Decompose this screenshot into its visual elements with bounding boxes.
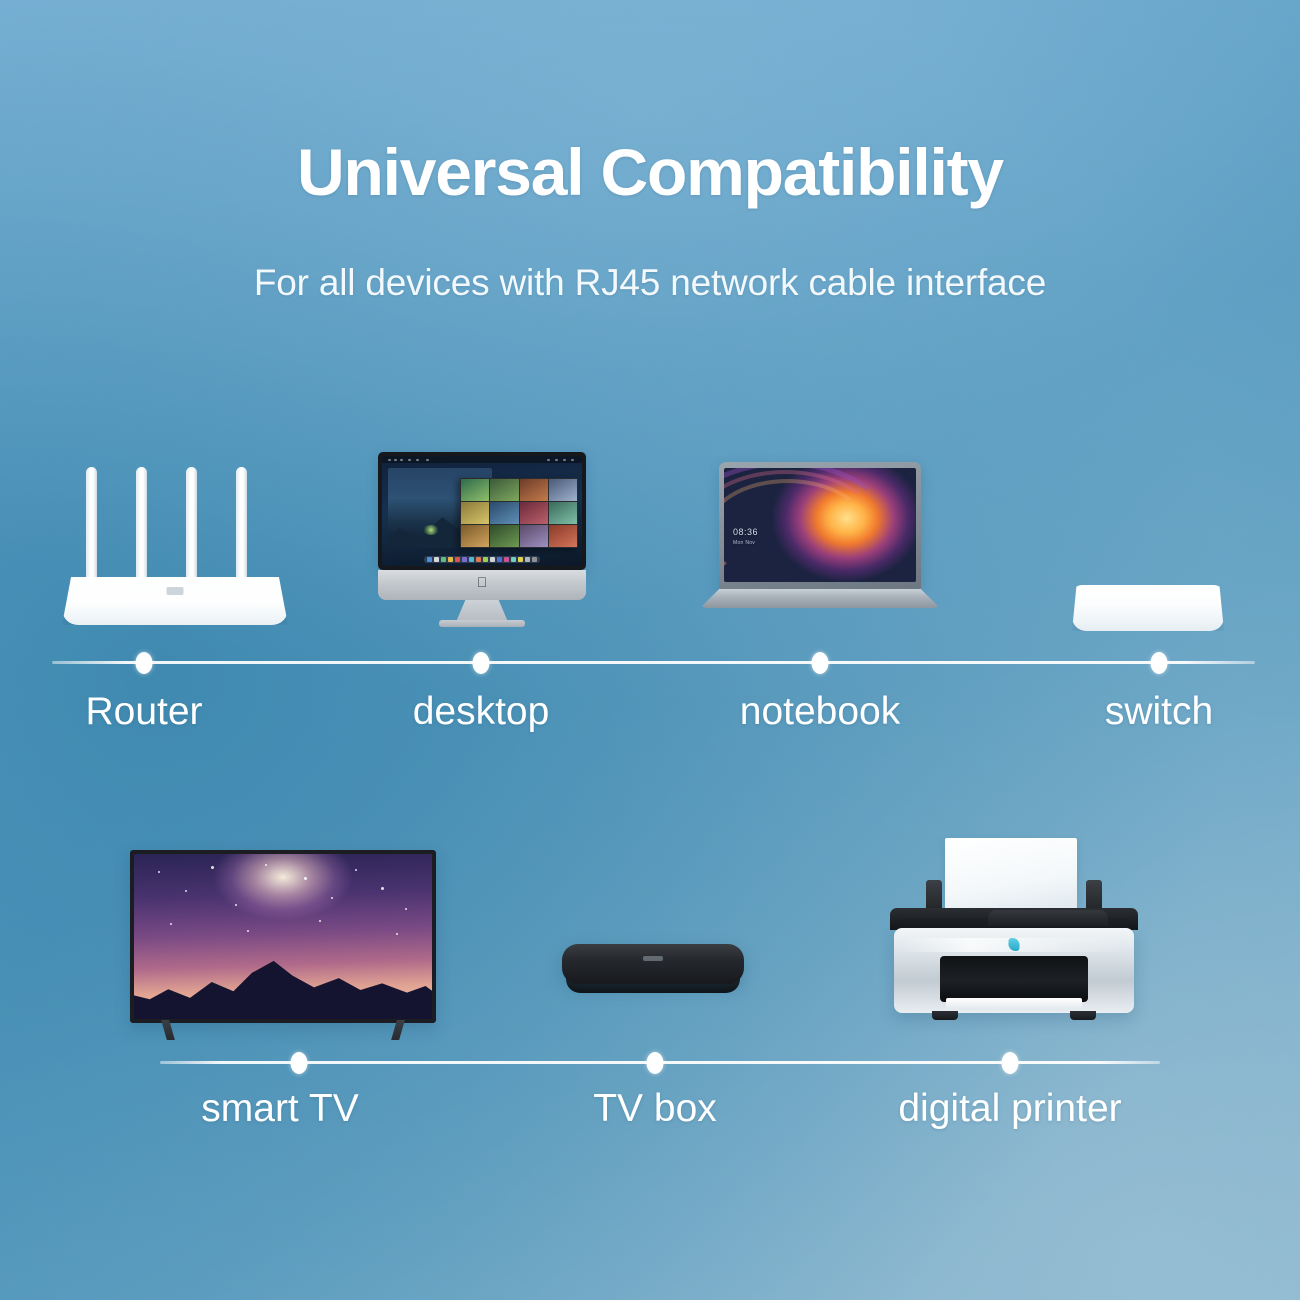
printer-output-tray [946,998,1082,1009]
printer-lid-seam [988,910,1108,926]
page-title: Universal Compatibility [0,138,1300,207]
device-label-router: Router [85,690,202,734]
imac-desktop-icon:  [378,452,586,634]
laptop-icon: 08:36 Mon Nov [700,462,940,637]
timeline-dot [136,652,153,674]
imac-screen [382,456,582,566]
apple-logo-icon:  [477,576,488,589]
timeline-dot [1151,652,1168,674]
printer-brand-logo [1009,938,1020,951]
device-label-switch: switch [1105,690,1213,734]
device-label-smart-tv: smart TV [201,1087,358,1131]
laptop-screen: 08:36 Mon Nov [724,468,916,582]
printer-icon [888,838,1140,1036]
clock-time: 08:36 [733,527,758,538]
imac-bezel [378,452,586,570]
imac-dock [424,556,540,563]
tv-box-icon [562,944,744,1006]
tv-mountain-silhouette [134,953,432,1019]
device-label-digital-printer: digital printer [898,1087,1121,1131]
device-label-desktop: desktop [413,690,550,734]
switch-body [1072,585,1224,631]
paper-guide [1086,880,1102,910]
router-body [62,577,288,625]
laptop-clock-widget: 08:36 Mon Nov [733,527,758,549]
television-icon [130,850,436,1040]
router-logo [167,587,184,595]
paper-guide [926,880,942,910]
device-label-notebook: notebook [740,690,900,734]
device-label-tv-box: TV box [593,1087,717,1131]
laptop-lid: 08:36 Mon Nov [719,462,921,589]
page-subtitle: For all devices with RJ45 network cable … [0,262,1300,304]
network-switch-icon [1072,585,1224,631]
tv-box-logo [643,956,663,961]
timeline-dot [812,652,829,674]
timeline-rail-row-one [52,661,1255,664]
imac-stand-foot [439,620,525,627]
router-antenna [236,467,247,585]
router-antenna [186,467,197,585]
tv-box-top [562,944,744,984]
tv-frame [130,850,436,1023]
tv-leg [161,1020,175,1040]
printer-foot [1070,1011,1096,1020]
router-antenna [86,467,97,585]
imac-stand-neck [456,600,508,622]
printer-output-slot [940,956,1088,1002]
laptop-base [700,589,940,608]
timeline-dot [1002,1052,1019,1074]
imac-photo-grid [460,478,578,548]
router-antenna [136,467,147,585]
imac-chin:  [378,570,586,600]
timeline-dot [473,652,490,674]
router-icon [60,462,290,637]
timeline-dot [647,1052,664,1074]
imac-menu-bar [382,456,582,463]
printer-paper [945,838,1077,910]
tv-screen [134,854,432,1019]
product-feature-banner: Universal Compatibility For all devices … [0,0,1300,1300]
tv-leg [391,1020,405,1040]
printer-foot [932,1011,958,1020]
timeline-dot [291,1052,308,1074]
clock-date: Mon Nov [733,538,758,549]
